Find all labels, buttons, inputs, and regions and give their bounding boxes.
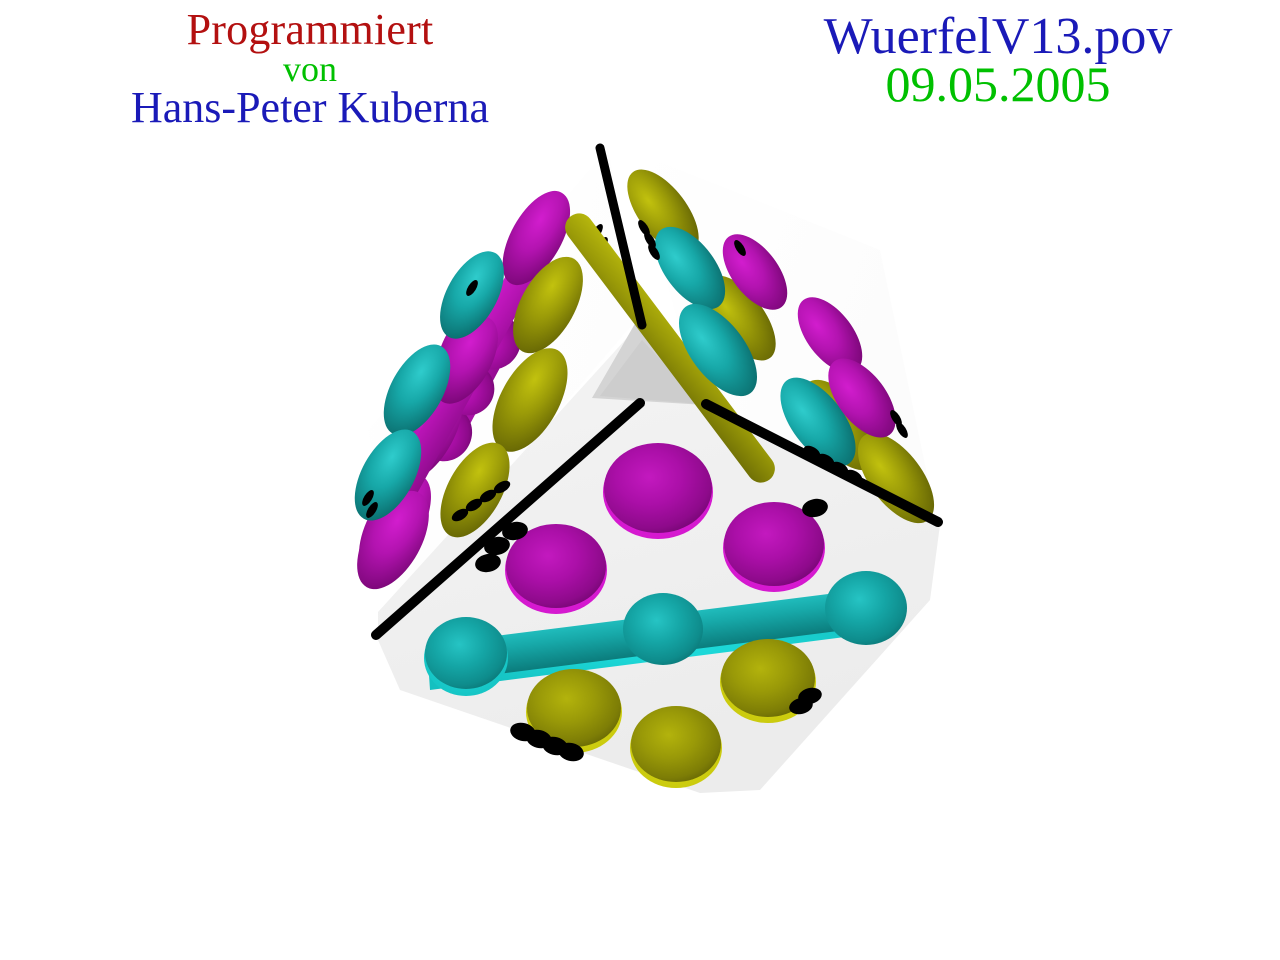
die-render-stage bbox=[0, 0, 1280, 960]
die-svg bbox=[0, 0, 1280, 960]
